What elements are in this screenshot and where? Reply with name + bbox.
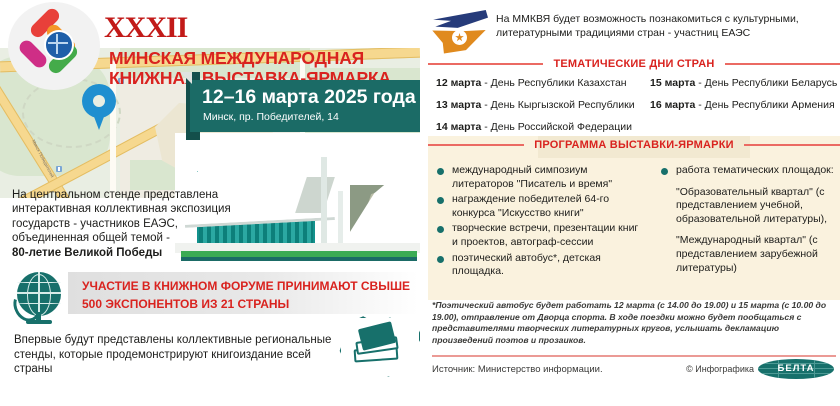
thematic-day-row: 12 марта - День Республики Казахстан bbox=[436, 76, 627, 90]
day-date: 13 марта bbox=[436, 99, 481, 111]
day-text: - День Республики Казахстан bbox=[481, 77, 626, 89]
page-title: XXXII МИНСКАЯ МЕЖДУНАРОДНАЯ КНИЖНАЯ ВЫСТ… bbox=[104, 8, 420, 88]
poetry-bus-footnote: *Поэтический автобус будет работать 12 м… bbox=[432, 300, 836, 346]
book-fair-pinwheel-logo bbox=[8, 2, 100, 90]
program-rule-right bbox=[744, 144, 840, 146]
title-line-1: МИНСКАЯ МЕЖДУНАРОДНАЯ bbox=[109, 48, 391, 68]
program-item-text: поэтический автобус*, детская площадка. bbox=[452, 252, 601, 278]
program-list-item: работа тематических площадок: bbox=[660, 164, 838, 178]
day-date: 12 марта bbox=[436, 77, 481, 89]
program-list-item: творческие встречи, презентации книг и п… bbox=[436, 222, 646, 249]
source-label: Источник: Министерство информации. bbox=[432, 364, 603, 375]
copyright-label: © Инфографика bbox=[686, 364, 754, 374]
pinwheel-bars bbox=[24, 10, 88, 76]
exhibitors-line-2: 500 ЭКСПОНЕНТОВ ИЗ 21 СТРАНЫ bbox=[82, 295, 410, 313]
event-dates: 12–16 марта 2025 года bbox=[202, 86, 416, 109]
left-column: ул. Тимирязева Минск Победителей bbox=[0, 0, 420, 406]
bullet-dot-icon bbox=[437, 197, 444, 204]
program-title: ПРОГРАММА ВЫСТАВКИ-ЯРМАРКИ bbox=[524, 139, 743, 151]
central-stand-intro: На центральном стенде представлена интер… bbox=[12, 188, 262, 260]
thematic-day-row: 13 марта - День Кыргызской Республики bbox=[436, 98, 635, 112]
date-ribbon: 12–16 марта 2025 года Минск, пр. Победит… bbox=[190, 80, 420, 132]
program-heading: ПРОГРАММА ВЫСТАВКИ-ЯРМАРКИ bbox=[428, 139, 840, 151]
day-text: - День Республики Беларусь bbox=[695, 77, 837, 89]
globe-icon bbox=[14, 272, 64, 324]
program-venue-1: "Образовательный квартал" (с представлен… bbox=[660, 186, 838, 227]
eaeu-text-line-2: литературными традициями стран - участни… bbox=[496, 26, 836, 40]
day-text: - День Республики Армения bbox=[695, 99, 834, 111]
program-list-item: международный симпозиум литераторов "Пис… bbox=[436, 164, 646, 191]
exhibitors-strip-text: УЧАСТИЕ В КНИЖНОМ ФОРУМЕ ПРИНИМАЮТ СВЫШЕ… bbox=[82, 277, 410, 313]
program-list-item: поэтический автобус*, детская площадка. bbox=[436, 252, 646, 279]
intro-line-5: 80-летие Великой Победы bbox=[12, 246, 262, 260]
thematic-day-row: 14 марта - День Российской Федерации bbox=[436, 120, 632, 134]
pin-hole bbox=[93, 95, 105, 107]
program-left-list: международный симпозиум литераторов "Пис… bbox=[436, 164, 646, 281]
program-venue-2: "Международный квартал" (с представление… bbox=[660, 234, 838, 275]
bullet-dot-icon bbox=[437, 256, 444, 263]
eaeu-logo bbox=[428, 8, 490, 58]
bullet-dot-icon bbox=[437, 168, 444, 175]
thematic-days-title: ТЕМАТИЧЕСКИЕ ДНИ СТРАН bbox=[543, 58, 724, 70]
day-date: 15 марта bbox=[650, 77, 695, 89]
program-item-text: награждение победителей 64-го конкурса "… bbox=[452, 193, 609, 219]
title-roman-numeral: XXXII bbox=[104, 8, 187, 48]
belta-logo: БЕЛТА bbox=[758, 359, 834, 379]
globe-stand-foot bbox=[26, 320, 52, 324]
day-date: 14 марта bbox=[436, 121, 481, 133]
program-item-text: международный симпозиум литераторов "Пис… bbox=[452, 164, 612, 190]
intro-line-2: интерактивная коллективная экспозиция bbox=[12, 202, 262, 216]
program-panel: ПРОГРАММА ВЫСТАВКИ-ЯРМАРКИ международный… bbox=[428, 136, 840, 300]
exhibitors-strip: УЧАСТИЕ В КНИЖНОМ ФОРУМЕ ПРИНИМАЮТ СВЫШЕ… bbox=[68, 272, 418, 314]
program-list-item: награждение победителей 64-го конкурса "… bbox=[436, 193, 646, 220]
heading-rule-right bbox=[725, 63, 840, 65]
eaeu-description: На ММКВЯ будет возможность познакомиться… bbox=[496, 12, 836, 40]
building-mast bbox=[321, 157, 327, 245]
footer-divider bbox=[432, 355, 836, 357]
eaeu-text-line-1: На ММКВЯ будет возможность познакомиться… bbox=[496, 12, 836, 26]
heading-rule-left bbox=[428, 63, 543, 65]
day-text: - День Российской Федерации bbox=[481, 121, 632, 133]
program-rule-left bbox=[428, 144, 524, 146]
bullet-dot-icon bbox=[437, 226, 444, 233]
belarus-books-icon bbox=[338, 315, 416, 373]
thematic-day-row: 15 марта - День Республики Беларусь bbox=[650, 76, 837, 90]
day-text: - День Кыргызской Республики bbox=[481, 99, 634, 111]
belta-wordmark: БЕЛТА bbox=[758, 363, 834, 374]
right-column: На ММКВЯ будет возможность познакомиться… bbox=[424, 0, 840, 406]
intro-line-1: На центральном стенде представлена bbox=[12, 188, 262, 202]
map-poi-icon-4 bbox=[56, 166, 62, 172]
map-location-pin bbox=[82, 84, 116, 130]
intro-line-4: объединенная общей темой - bbox=[12, 231, 262, 245]
program-item-text: творческие встречи, презентации книг и п… bbox=[452, 222, 638, 248]
thematic-days-heading: ТЕМАТИЧЕСКИЕ ДНИ СТРАН bbox=[428, 58, 840, 70]
bullet-dot-icon bbox=[661, 168, 668, 175]
event-address: Минск, пр. Победителей, 14 bbox=[203, 111, 339, 123]
intro-line-3: государств - участников ЕАЭС, bbox=[12, 217, 262, 231]
thematic-day-row: 16 марта - День Республики Армения bbox=[650, 98, 835, 112]
exhibitors-line-1: УЧАСТИЕ В КНИЖНОМ ФОРУМЕ ПРИНИМАЮТ СВЫШЕ bbox=[82, 277, 410, 295]
program-item-text: работа тематических площадок: bbox=[676, 164, 834, 176]
building-mast-2 bbox=[338, 191, 343, 245]
logo-globe-icon bbox=[44, 30, 74, 60]
program-right-list: работа тематических площадок: "Образоват… bbox=[660, 164, 838, 275]
day-date: 16 марта bbox=[650, 99, 695, 111]
regional-stands-note: Впервые будут представлены коллективные … bbox=[14, 333, 344, 377]
infographic-root: ул. Тимирязева Минск Победителей bbox=[0, 0, 840, 406]
